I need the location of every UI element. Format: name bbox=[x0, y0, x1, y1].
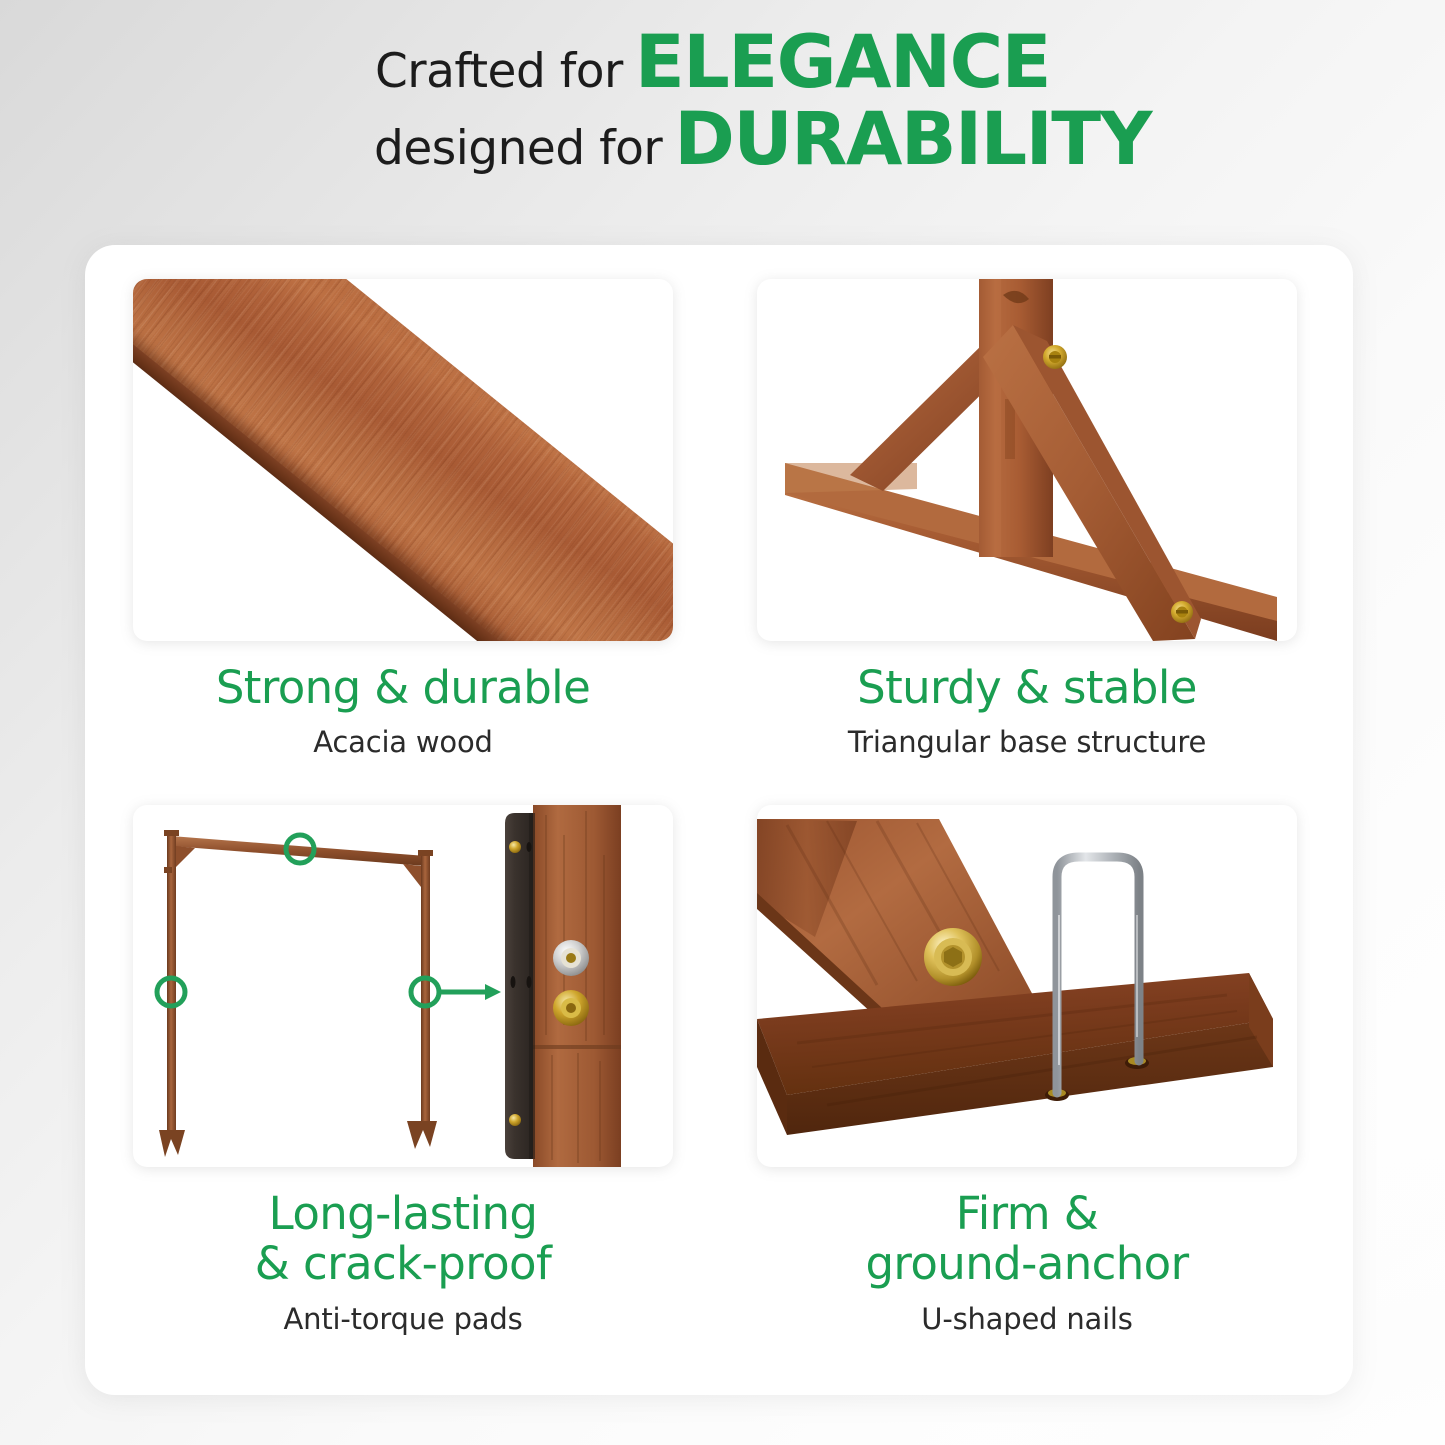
feature-cell-firm-ground-anchor: Firm & ground-anchor U-shaped nails bbox=[757, 805, 1297, 1336]
anti-torque-pad-upper bbox=[553, 940, 589, 976]
headline-line-2: designed forDURABILITY bbox=[80, 103, 1445, 176]
frame-right-gusset bbox=[403, 864, 421, 887]
post-left-highlight bbox=[979, 279, 1001, 557]
headline-line-1: Crafted forELEGANCE bbox=[0, 26, 1445, 99]
feature-subtitle: Triangular base structure bbox=[757, 713, 1297, 759]
wood-plank-shape bbox=[133, 279, 673, 641]
feature-cell-strong-durable: Strong & durable Acacia wood bbox=[133, 279, 673, 759]
anti-torque-pads-diagram bbox=[133, 805, 673, 1167]
plate-screw-bottom bbox=[509, 1114, 521, 1126]
frame-left-bracket bbox=[164, 867, 172, 873]
feature-subtitle: Anti-torque pads bbox=[133, 1290, 673, 1336]
u-shaped-nail-illustration bbox=[757, 805, 1297, 1167]
frame-left-gusset bbox=[176, 846, 195, 867]
plate-screw-top bbox=[509, 841, 521, 853]
anti-torque-pad-lower bbox=[553, 990, 589, 1026]
frame-left-cap bbox=[164, 830, 179, 836]
feature-title: Strong & durable bbox=[133, 663, 673, 713]
plate-hole-top bbox=[527, 842, 532, 852]
acacia-wood-plank-photo bbox=[133, 279, 673, 641]
feature-cell-sturdy-stable: Sturdy & stable Triangular base structur… bbox=[757, 279, 1297, 759]
triangular-base-illustration bbox=[757, 279, 1297, 641]
plate-slot-lower bbox=[527, 976, 532, 988]
frame-left-foot bbox=[159, 1130, 185, 1157]
features-card: Strong & durable Acacia wood bbox=[85, 245, 1353, 1395]
feature-subtitle: Acacia wood bbox=[133, 713, 673, 759]
callout-arrow-icon bbox=[441, 984, 501, 1000]
feature-title: Sturdy & stable bbox=[757, 663, 1297, 713]
triangular-base-structure-photo bbox=[757, 279, 1297, 641]
frame-right-leg bbox=[421, 854, 430, 1124]
swing-frame-outline bbox=[159, 830, 437, 1157]
frame-right-foot bbox=[407, 1121, 437, 1149]
features-grid: Strong & durable Acacia wood bbox=[85, 245, 1353, 1395]
feature-cell-long-lasting: Long-lasting & crack-proof Anti-torque p… bbox=[133, 805, 673, 1336]
headline-line-2-plain: designed for bbox=[374, 121, 662, 176]
caption-strong-durable: Strong & durable Acacia wood bbox=[133, 641, 673, 759]
plank-wrapper bbox=[133, 279, 673, 641]
post-bracket-detail bbox=[505, 805, 621, 1167]
u-shaped-nails-photo bbox=[757, 805, 1297, 1167]
caption-firm-ground-anchor: Firm & ground-anchor U-shaped nails bbox=[757, 1167, 1297, 1336]
feature-title: Long-lasting & crack-proof bbox=[133, 1189, 673, 1290]
post-grain-line bbox=[1005, 399, 1015, 459]
post-seam-line bbox=[533, 1045, 621, 1049]
frame-right-cap bbox=[418, 850, 433, 856]
headline-line-1-accent: ELEGANCE bbox=[635, 20, 1050, 105]
frame-left-leg bbox=[167, 833, 176, 1133]
feature-title: Firm & ground-anchor bbox=[757, 1189, 1297, 1290]
caption-sturdy-stable: Sturdy & stable Triangular base structur… bbox=[757, 641, 1297, 759]
headline-line-1-plain: Crafted for bbox=[375, 44, 623, 99]
plank-bottom-edge bbox=[133, 296, 664, 641]
brass-screw-lower bbox=[1171, 601, 1193, 623]
caption-long-lasting: Long-lasting & crack-proof Anti-torque p… bbox=[133, 1167, 673, 1336]
headline-line-2-accent: DURABILITY bbox=[674, 97, 1151, 182]
page-headline: Crafted forELEGANCE designed forDURABILI… bbox=[0, 26, 1445, 176]
plate-slot-upper bbox=[511, 976, 516, 988]
feature-subtitle: U-shaped nails bbox=[757, 1290, 1297, 1336]
brass-bolt-large bbox=[924, 928, 982, 986]
anti-torque-pads-illustration bbox=[133, 805, 673, 1167]
brass-screw-upper bbox=[1043, 345, 1067, 369]
